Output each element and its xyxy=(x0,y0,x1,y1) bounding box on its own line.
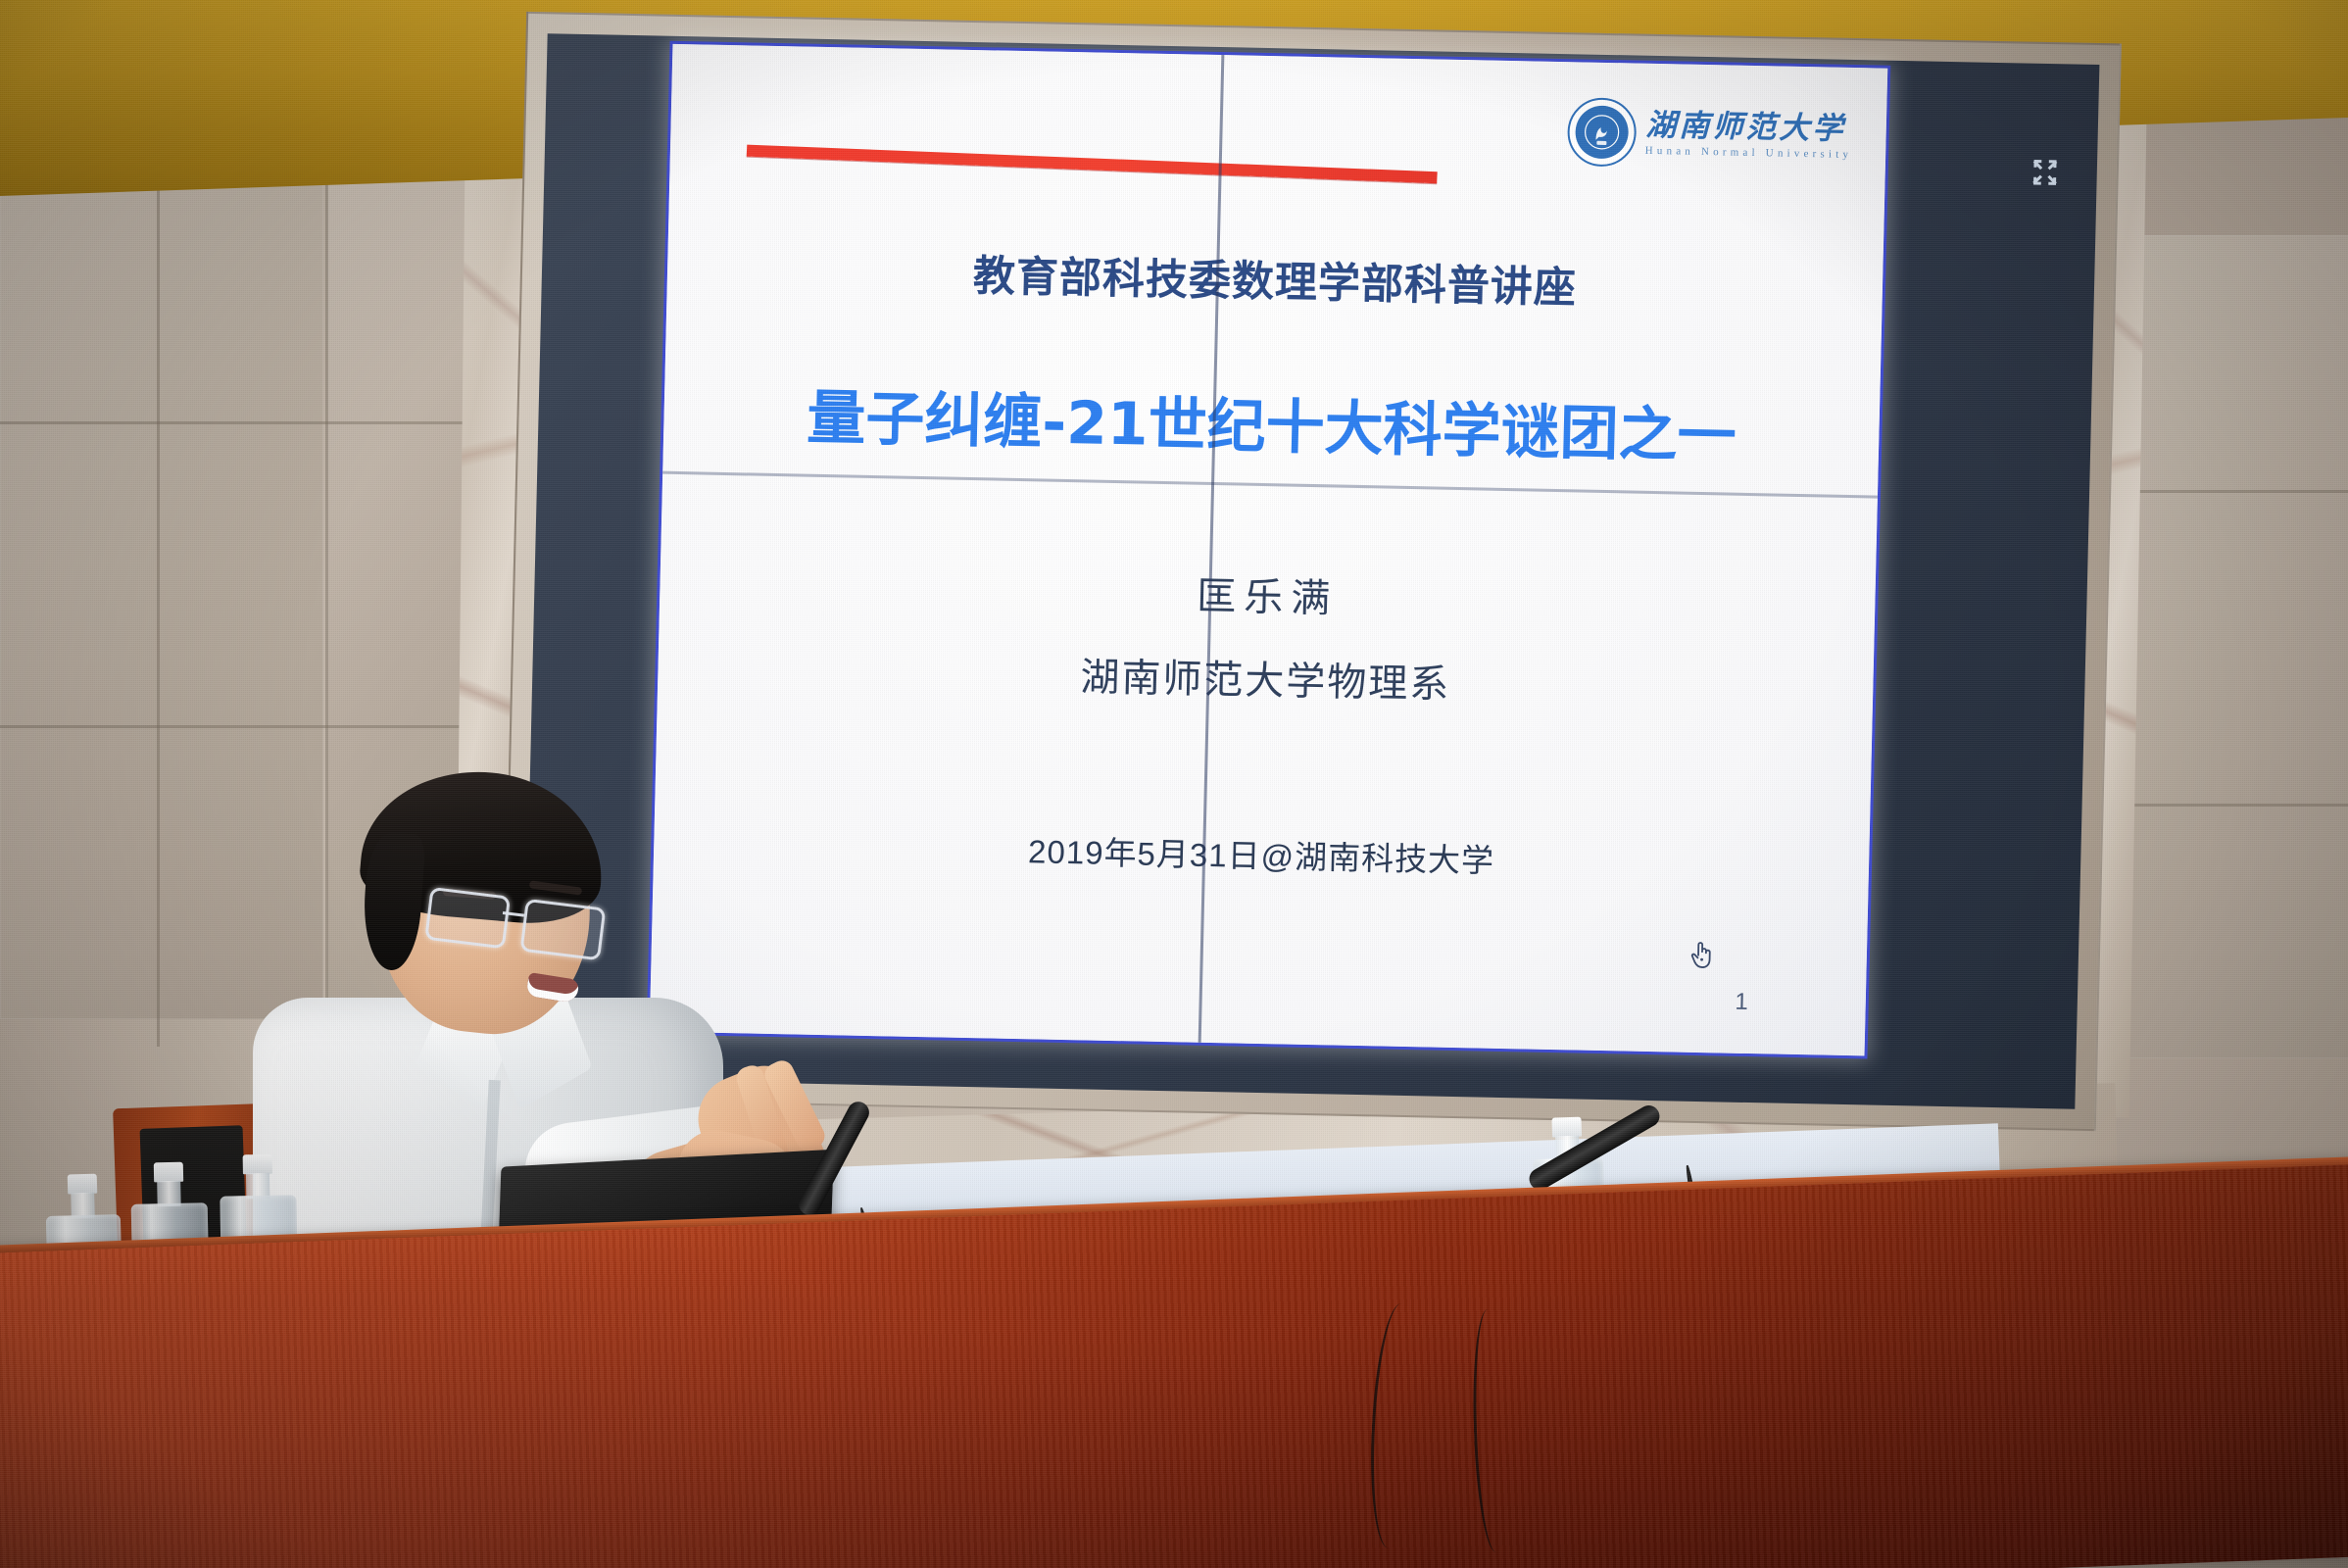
presentation-slide: 湖南师范大学 Hunan Normal University 教育部科技委数理学… xyxy=(650,44,1888,1056)
slide-title: 量子纠缠-21世纪十大科学谜团之一 xyxy=(663,367,1881,477)
title-divider-rule xyxy=(747,145,1438,184)
wall-seam xyxy=(0,421,529,424)
bottle-cap xyxy=(154,1162,183,1183)
wall-seam xyxy=(157,116,160,1047)
wall-seam xyxy=(0,725,529,728)
collapse-arrows-icon[interactable] xyxy=(2030,158,2060,188)
slide-affiliation: 湖南师范大学物理系 xyxy=(658,637,1874,718)
eyeglass-lens-right xyxy=(519,899,606,961)
eyeglass-lens-left xyxy=(424,887,511,950)
hand-cursor-icon[interactable] xyxy=(1688,937,1718,977)
photograph-scene: 湖南师范大学 Hunan Normal University 教育部科技委数理学… xyxy=(0,0,2348,1568)
slide-author: 匡乐满 xyxy=(660,554,1876,635)
university-logo: 湖南师范大学 Hunan Normal University xyxy=(1566,97,1853,171)
slide-page-number: 1 xyxy=(1735,989,1748,1016)
university-crest-icon xyxy=(1566,97,1637,167)
logo-name-cn: 湖南师范大学 xyxy=(1645,110,1853,144)
slide-subtitle: 教育部科技委数理学部科普讲座 xyxy=(666,236,1883,321)
slide-date-location: 2019年5月31日@湖南科技大学 xyxy=(654,818,1870,890)
bottle-cap xyxy=(68,1174,98,1195)
logo-name-en: Hunan Normal University xyxy=(1645,145,1853,160)
bottle-cap xyxy=(1551,1117,1582,1138)
bottle-cap xyxy=(243,1154,272,1175)
